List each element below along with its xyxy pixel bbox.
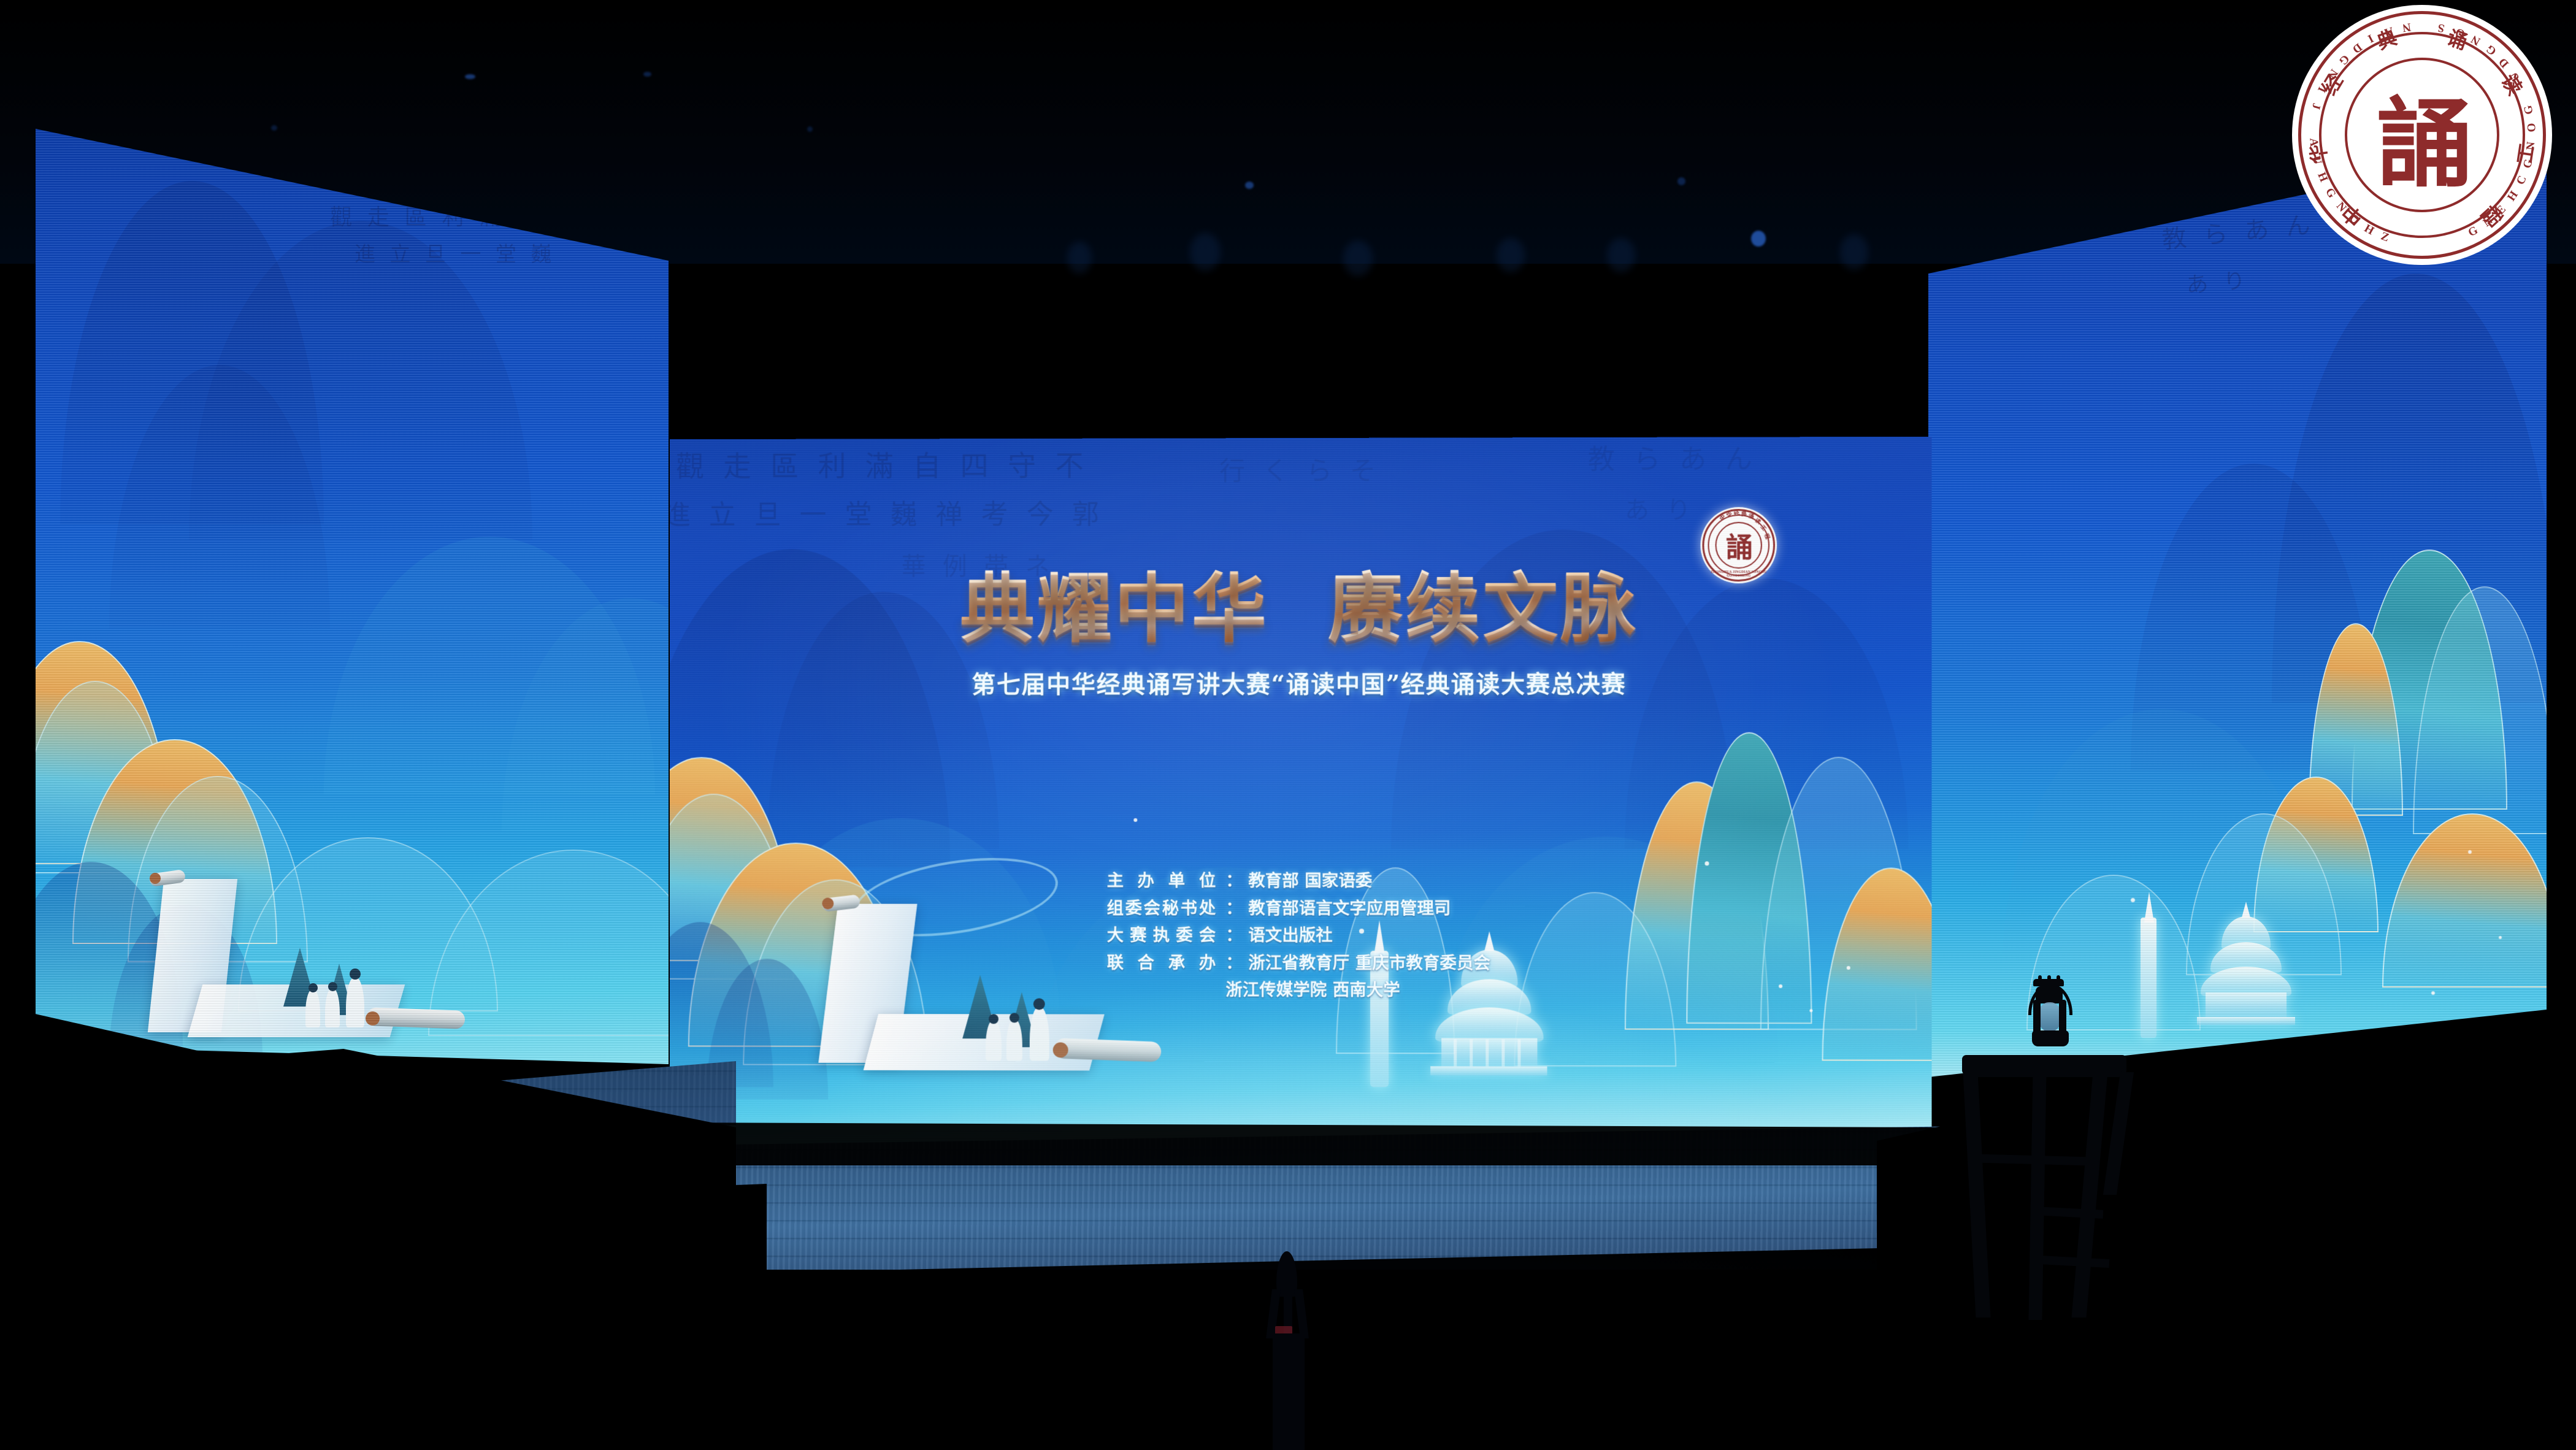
seal-center-glyph: 誦 — [2292, 5, 2552, 265]
credit-label — [1107, 976, 1220, 1004]
main-led-screen: 觀 走 區 利 滿 自 四 守 不 進 立 旦 一 堂 巍 禅 考 今 郭 華 … — [670, 437, 1932, 1149]
credit-row: 浙江传媒学院 西南大学 — [1107, 976, 1491, 1004]
organizer-credits-block: 主办单位 ： 教育部 国家语委 组委会秘书处 ： 教育部语言文字应用管理司 大赛… — [670, 867, 1932, 1005]
credit-row: 大赛执委会 ： 语文出版社 — [1107, 922, 1491, 949]
title-line-part2: 赓续文脉 — [1328, 569, 1638, 647]
proscenium-shadow — [669, 1122, 1944, 1165]
left-wing-led-screen: 觀 走 區 利 滿 自 進 立 旦 一 堂 巍 — [36, 107, 669, 1089]
credit-label: 大赛执委会 — [1107, 922, 1220, 949]
credit-label: 组委会秘书处 — [1107, 894, 1220, 922]
credit-value: 浙江传媒学院 西南大学 — [1219, 976, 1490, 1004]
credit-value: ： 教育部语言文字应用管理司 — [1219, 894, 1490, 922]
stage-photo: 觀 走 區 利 滿 自 進 立 旦 一 堂 巍 行 く ら そ 教 ら あ ん … — [0, 0, 2576, 1450]
credit-value: ： 语文出版社 — [1219, 922, 1490, 949]
credit-row: 组委会秘书处 ： 教育部语言文字应用管理司 — [1107, 894, 1491, 922]
right-wing-led-screen: 行 く ら そ 教 ら あ ん あ り — [1928, 120, 2547, 1089]
seal-pinyin-char: O — [2525, 123, 2539, 132]
stage-riser-center — [423, 1184, 767, 1294]
seal-pinyin-char: N — [2401, 20, 2412, 34]
camera-tripod-silhouette — [1260, 1251, 1316, 1450]
credit-label: 联合承办 — [1107, 949, 1220, 976]
seal-pinyin-char: N — [2524, 141, 2538, 151]
credit-value: ： 浙江省教育厅 重庆市教育委员会 — [1219, 949, 1490, 977]
credit-label: 主办单位 — [1107, 867, 1220, 895]
event-seal-logo: 誦中华经典诵读工程ZHONGHUA JINGDIAN SONGDU GONGCH… — [2292, 5, 2552, 265]
kerosene-lantern-silhouette — [2020, 978, 2081, 1057]
wooden-stool-silhouette — [1962, 1055, 2140, 1319]
event-subtitle: 第七届中华经典诵写讲大赛“诵读中国”经典诵读大赛总决赛 — [670, 665, 1932, 700]
seal-pinyin-char: A — [2307, 137, 2321, 147]
title-line-part1: 典耀中华 — [960, 569, 1269, 647]
credit-row: 主办单位 ： 教育部 国家语委 — [1107, 867, 1491, 895]
credit-row: 联合承办 ： 浙江省教育厅 重庆市教育委员会 — [1107, 949, 1491, 976]
credit-value: ： 教育部 国家语委 — [1219, 867, 1490, 895]
event-title-block: 典耀中华赓续文脉 第七届中华经典诵写讲大赛“诵读中国”经典诵读大赛总决赛 — [670, 569, 1932, 700]
